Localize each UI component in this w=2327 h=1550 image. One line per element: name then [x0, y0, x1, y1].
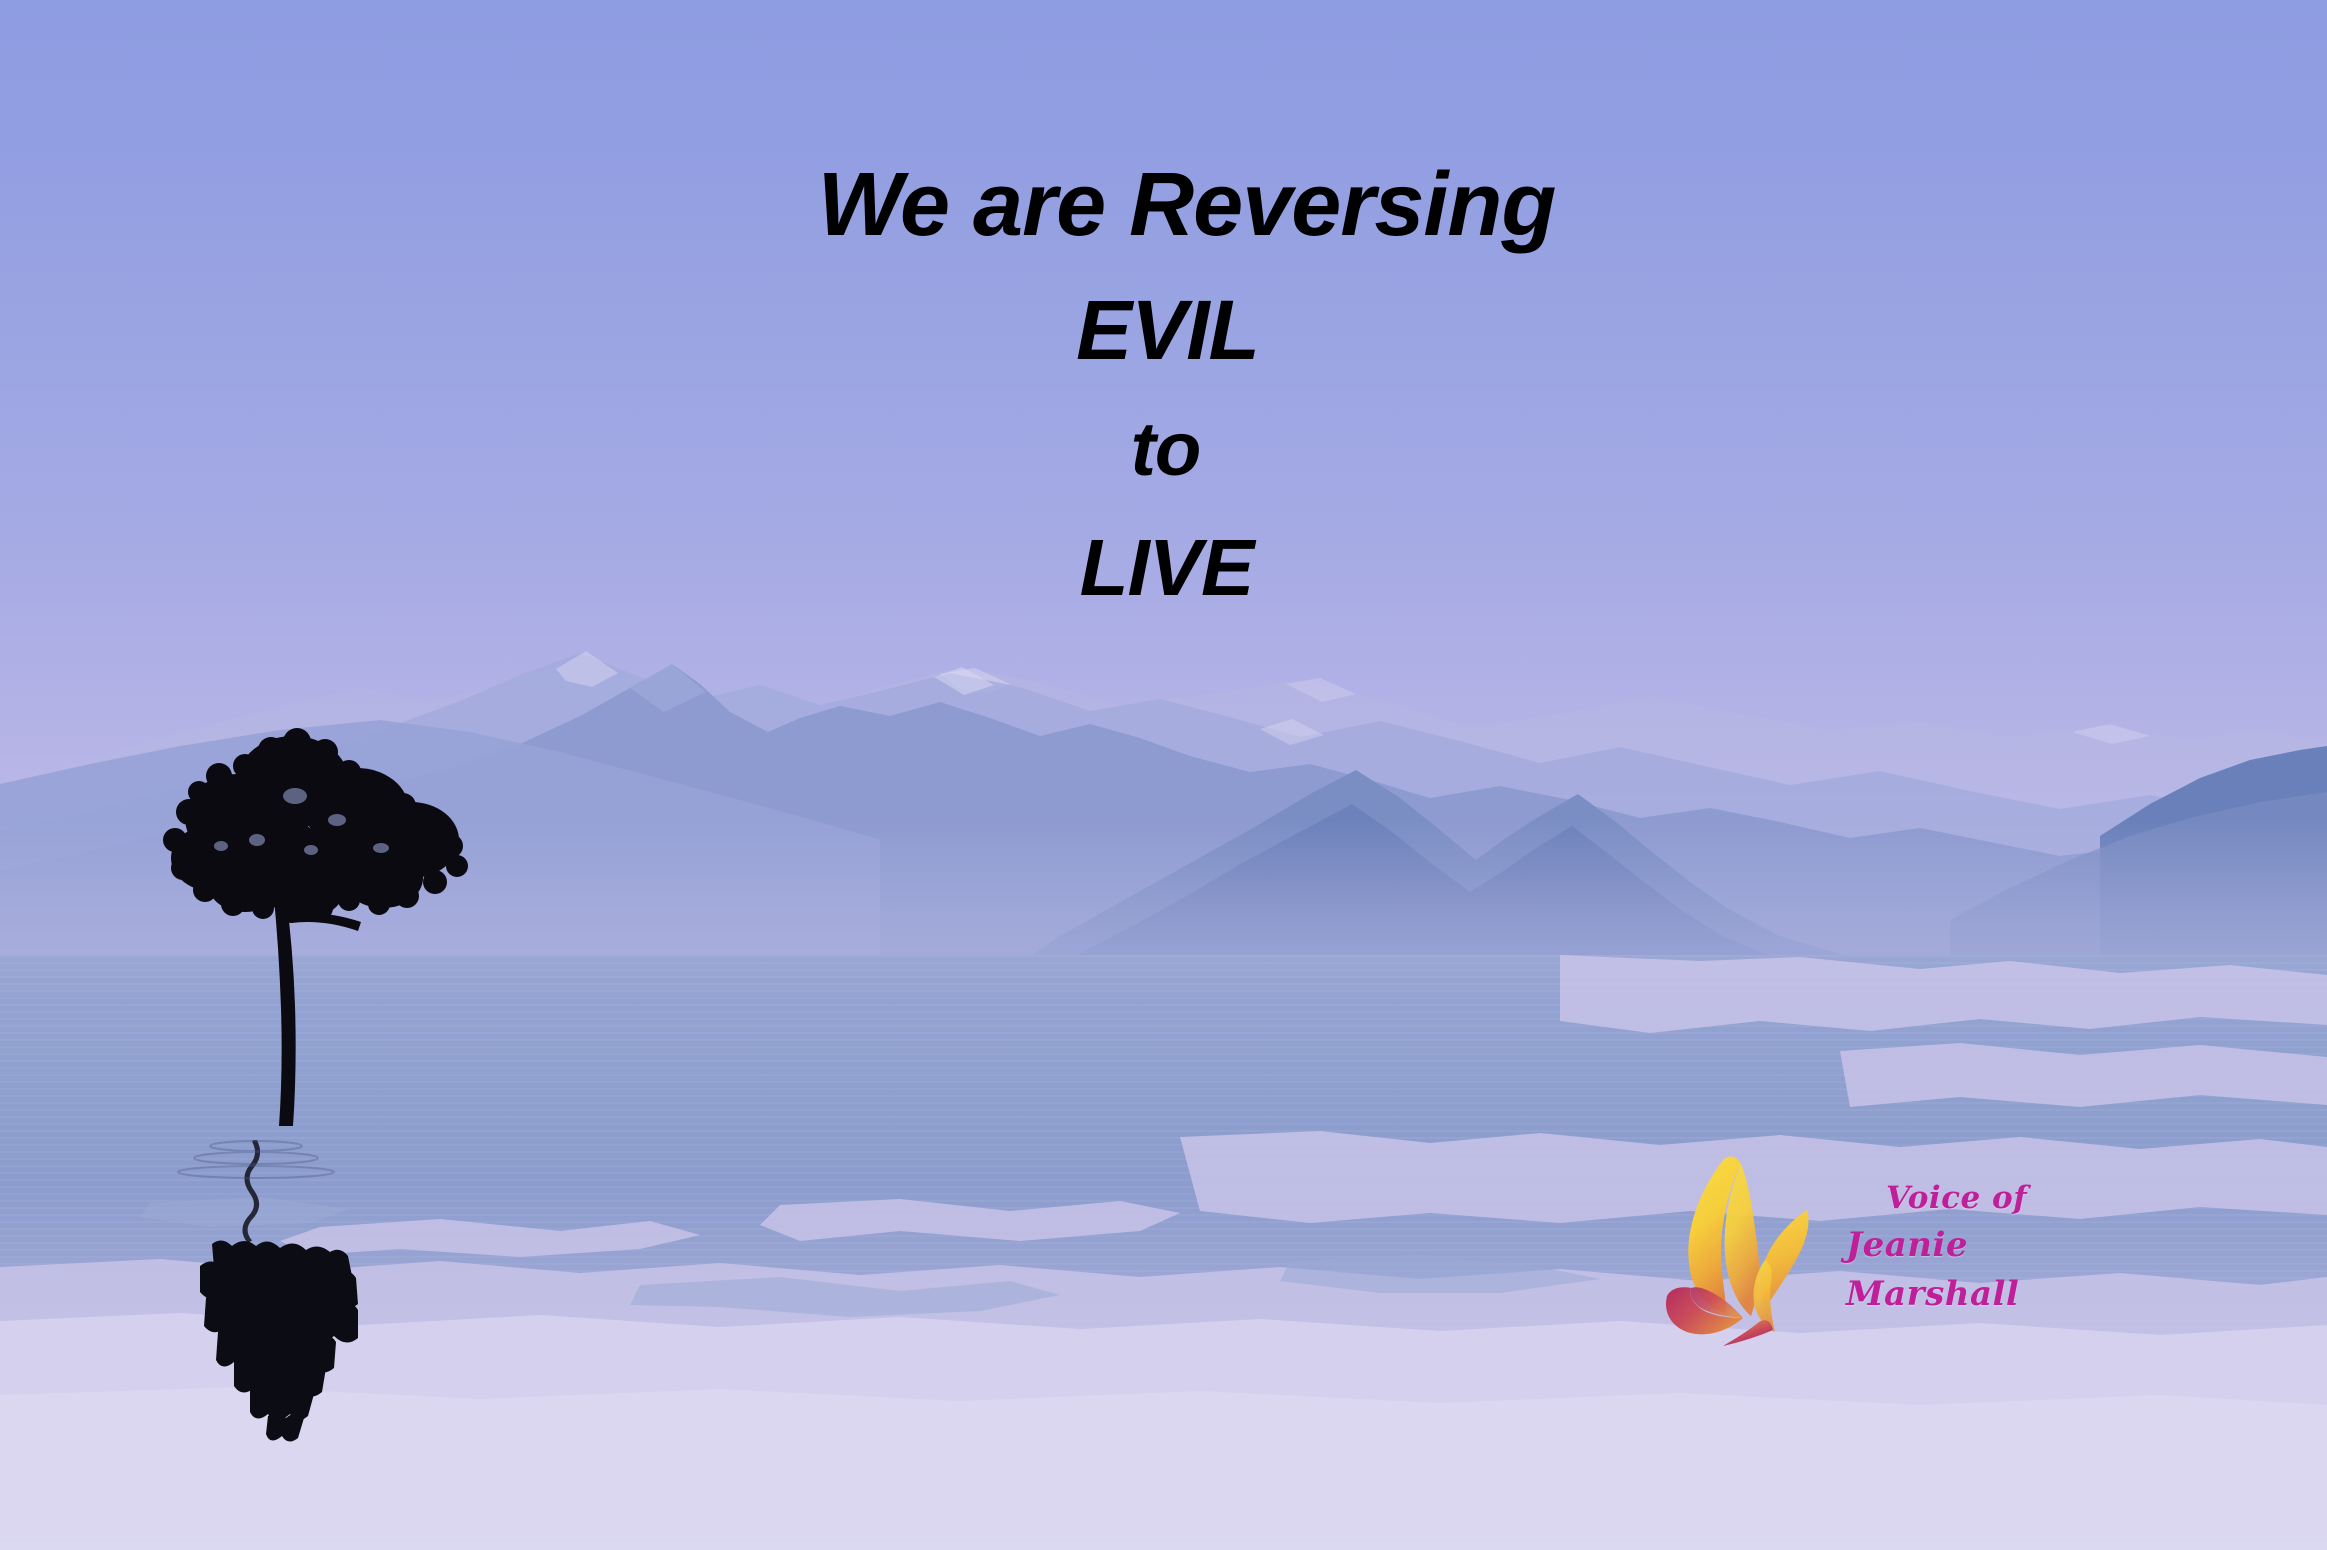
tree-water-reflection: [150, 1140, 510, 1470]
brand-wordmark: Voice of Jeanie Marshall: [1846, 1176, 2085, 1320]
brand-logo[interactable]: Voice of Jeanie Marshall: [1655, 1140, 2085, 1355]
brand-line-2: Jeanie Marshall: [1846, 1221, 2085, 1320]
poster-canvas: We are Reversing EVIL to LIVE: [0, 0, 2327, 1550]
lone-tree-silhouette: [145, 700, 505, 1130]
brand-line-1: Voice of: [1846, 1176, 2085, 1221]
butterfly-icon: [1655, 1148, 1840, 1348]
